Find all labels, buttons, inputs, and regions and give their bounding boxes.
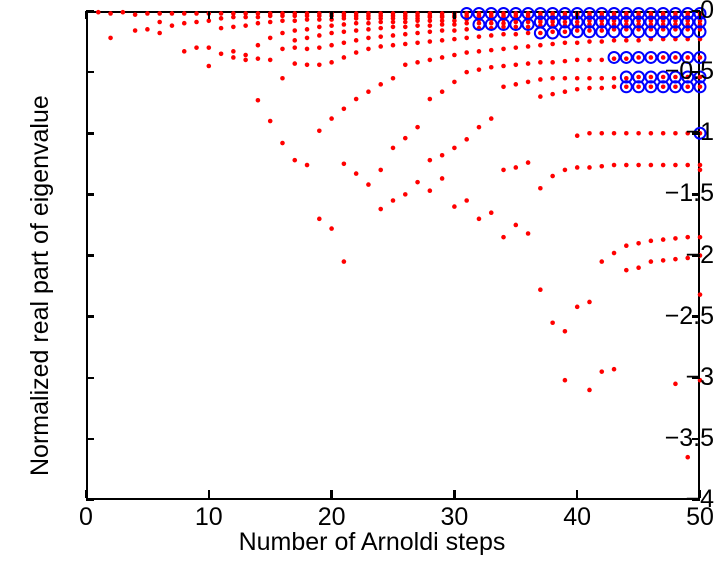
y-tick-mark [86, 254, 94, 257]
y-tick-mark [86, 315, 94, 318]
plot-area [86, 11, 700, 500]
x-tick-label: 0 [46, 505, 126, 530]
y-tick-label: −2.5 [640, 304, 714, 329]
x-tick-mark [699, 11, 702, 19]
y-tick-mark [86, 377, 94, 380]
y-tick-label: −3 [640, 365, 714, 390]
y-tick-label: −3.5 [640, 426, 714, 451]
x-tick-mark [576, 490, 579, 498]
y-tick-label: −1 [640, 120, 714, 145]
x-tick-mark [699, 490, 702, 498]
x-tick-label: 30 [414, 505, 494, 530]
y-tick-mark [86, 193, 94, 196]
y-tick-label: −1.5 [640, 181, 714, 206]
x-axis-title: Number of Arnoldi steps [15, 528, 714, 557]
x-tick-mark [85, 490, 88, 498]
x-tick-mark [576, 11, 579, 19]
y-tick-mark [86, 132, 94, 135]
x-tick-mark [330, 11, 333, 19]
x-tick-mark [330, 490, 333, 498]
x-tick-mark [208, 11, 211, 19]
x-tick-label: 20 [292, 505, 372, 530]
x-tick-mark [453, 490, 456, 498]
eigenvalue-convergence-figure: 0−0.5−1−1.5−2−2.5−3−3.5−401020304050 Nor… [0, 0, 714, 561]
x-tick-mark [85, 11, 88, 19]
x-tick-label: 40 [537, 505, 617, 530]
y-tick-mark [86, 71, 94, 74]
y-tick-mark [86, 499, 94, 502]
y-tick-mark [86, 438, 94, 441]
x-tick-label: 10 [169, 505, 249, 530]
y-tick-label: −2 [640, 243, 714, 268]
x-tick-mark [208, 490, 211, 498]
x-tick-label: 50 [660, 505, 714, 530]
y-axis-title: Normalized real part of eigenvalue [26, 95, 55, 476]
y-tick-label: −0.5 [640, 59, 714, 84]
x-tick-mark [453, 11, 456, 19]
y-tick-label: 0 [640, 0, 714, 23]
